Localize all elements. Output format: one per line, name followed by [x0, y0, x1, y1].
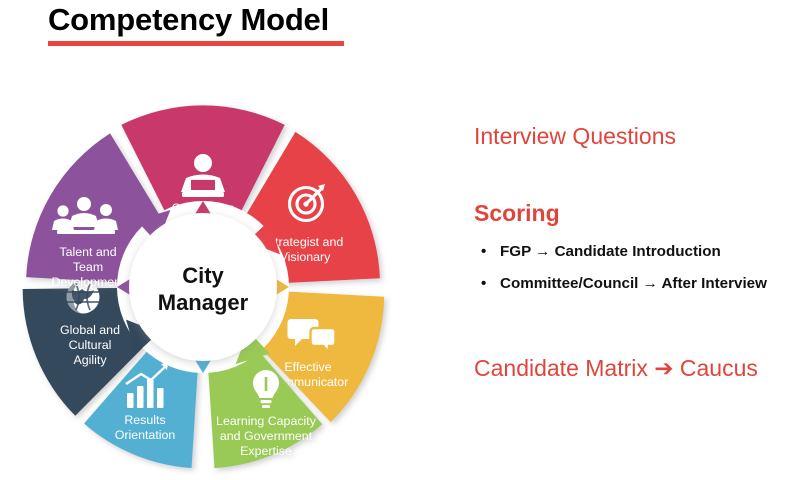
bullet-marker: • [481, 274, 486, 295]
wheel-segment-label: Results [124, 413, 165, 427]
list-item: • Committee/Council → After Interview [474, 274, 796, 295]
competency-wheel-diagram: Contagious Leadership Strategist and Vis… [10, 94, 396, 480]
wheel-segment-label: Learning Capacity [216, 414, 317, 428]
interview-questions-heading: Interview Questions [474, 123, 676, 150]
wheel-segment-label: Visionary [280, 250, 332, 264]
wheel-segment-label: Expertise [240, 444, 292, 458]
wheel-segment-label: Agility [73, 353, 107, 367]
right-content-panel: Interview Questions Scoring • FGP → Cand… [470, 0, 800, 480]
list-item-label: FGP → Candidate Introduction [500, 243, 721, 260]
wheel-segment-label: Talent and [59, 245, 116, 259]
wheel-segment-label: Global and [60, 323, 120, 337]
wheel-segment-label: Orientation [115, 428, 176, 442]
list-item-label: Committee/Council → After Interview [500, 275, 767, 292]
scoring-bullet-list: • FGP → Candidate Introduction • Committ… [474, 242, 796, 306]
page-title: Competency Model [48, 2, 329, 38]
wheel-segment-label: and Government [220, 429, 313, 443]
wheel-segment-label: Development [51, 275, 125, 289]
list-item: • FGP → Candidate Introduction [474, 242, 796, 263]
wheel-center-label: Manager [158, 290, 249, 315]
candidate-matrix-caucus-text: Candidate Matrix ➔ Caucus [474, 355, 758, 382]
wheel-center-label: City [182, 263, 224, 288]
title-underline-rule [48, 41, 344, 46]
wheel-segment-label: Cultural [69, 338, 112, 352]
bullet-marker: • [481, 242, 486, 263]
wheel-segment-label: Effective [284, 360, 331, 374]
wheel-inner-pinwheel: City Manager [117, 201, 289, 373]
wheel-segment-label: Team [73, 260, 103, 274]
scoring-heading: Scoring [474, 200, 560, 227]
